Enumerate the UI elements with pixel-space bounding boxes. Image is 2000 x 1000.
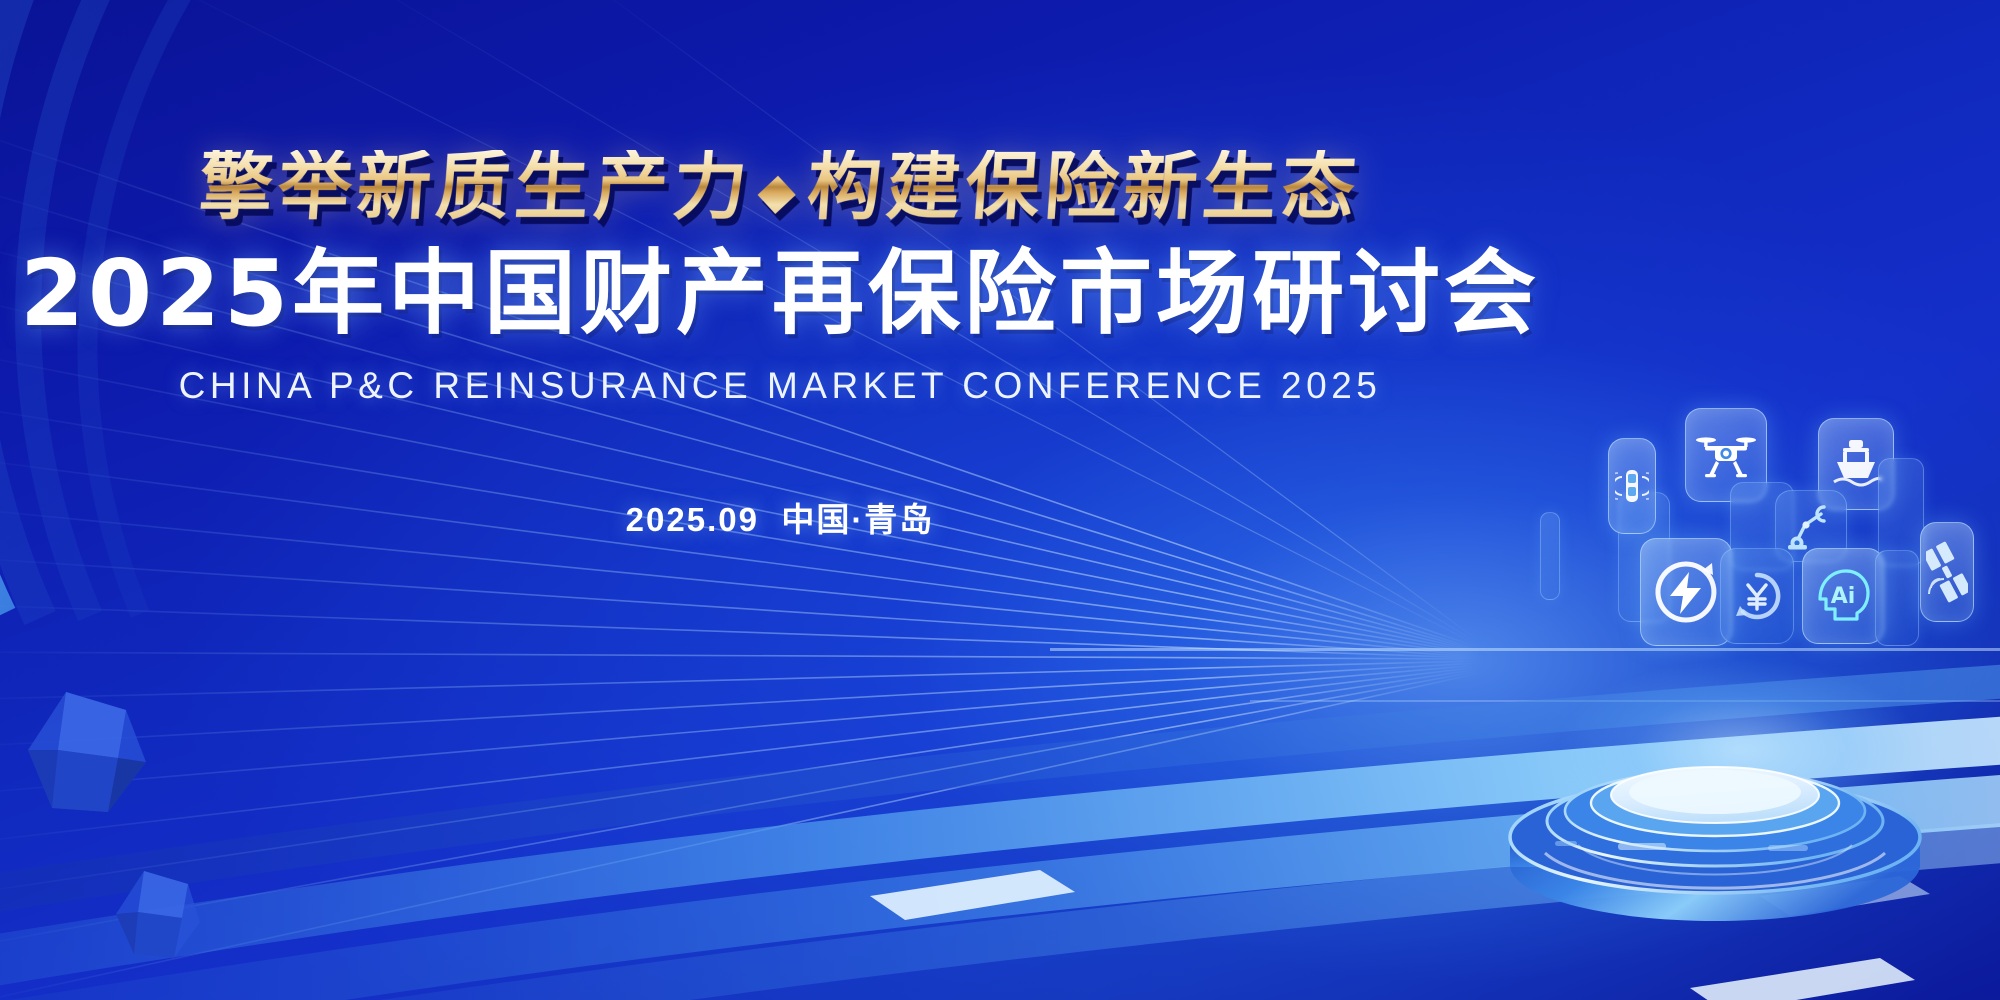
ship-icon — [1830, 437, 1882, 491]
tech-icon-cluster: Ai — [1530, 400, 2000, 780]
event-date: 2025.09 — [626, 501, 759, 538]
satellite-card — [1920, 522, 1974, 622]
smart-car-icon — [1615, 463, 1649, 509]
tech-podium — [1500, 745, 1930, 935]
page-title: 2025年中国财产再保险市场研讨会 — [0, 242, 1560, 345]
yuan-currency-card — [1720, 548, 1794, 644]
english-subtitle: CHINA P&C REINSURANCE MARKET CONFERENCE … — [0, 365, 1560, 407]
polygon-decoration-2 — [112, 868, 204, 969]
svg-text:Ai: Ai — [1831, 584, 1856, 609]
lightning-icon — [1653, 559, 1719, 625]
headline-separator-icon: ◆ — [750, 162, 810, 220]
ai-head-card: Ai — [1802, 548, 1884, 644]
gold-headline: 擎举新质生产力◆构建保险新生态 — [197, 150, 1364, 224]
conference-banner: 擎举新质生产力◆构建保险新生态 2025年中国财产再保险市场研讨会 CHINA … — [0, 0, 2000, 1000]
ai-head-icon: Ai — [1813, 567, 1873, 625]
lightning-card — [1640, 538, 1732, 646]
headline-part-1: 擎举新质生产力 — [196, 144, 755, 230]
ghost-card-slab-d — [1875, 550, 1919, 646]
satellite-icon — [1926, 540, 1968, 604]
robot-arm-icon — [1785, 501, 1837, 551]
event-location: 中国·青岛 — [781, 501, 934, 538]
polygon-decoration-1 — [22, 688, 150, 825]
smart-car-card — [1608, 438, 1656, 534]
drone-icon — [1695, 429, 1757, 481]
ghost-card-slab-left — [1540, 512, 1560, 600]
date-location-line: 2025.09 中国·青岛 — [0, 493, 1560, 541]
yuan-currency-icon — [1732, 570, 1782, 622]
banner-text-block: 擎举新质生产力◆构建保险新生态 2025年中国财产再保险市场研讨会 CHINA … — [0, 150, 1560, 541]
headline-part-2: 构建保险新生态 — [805, 144, 1364, 230]
